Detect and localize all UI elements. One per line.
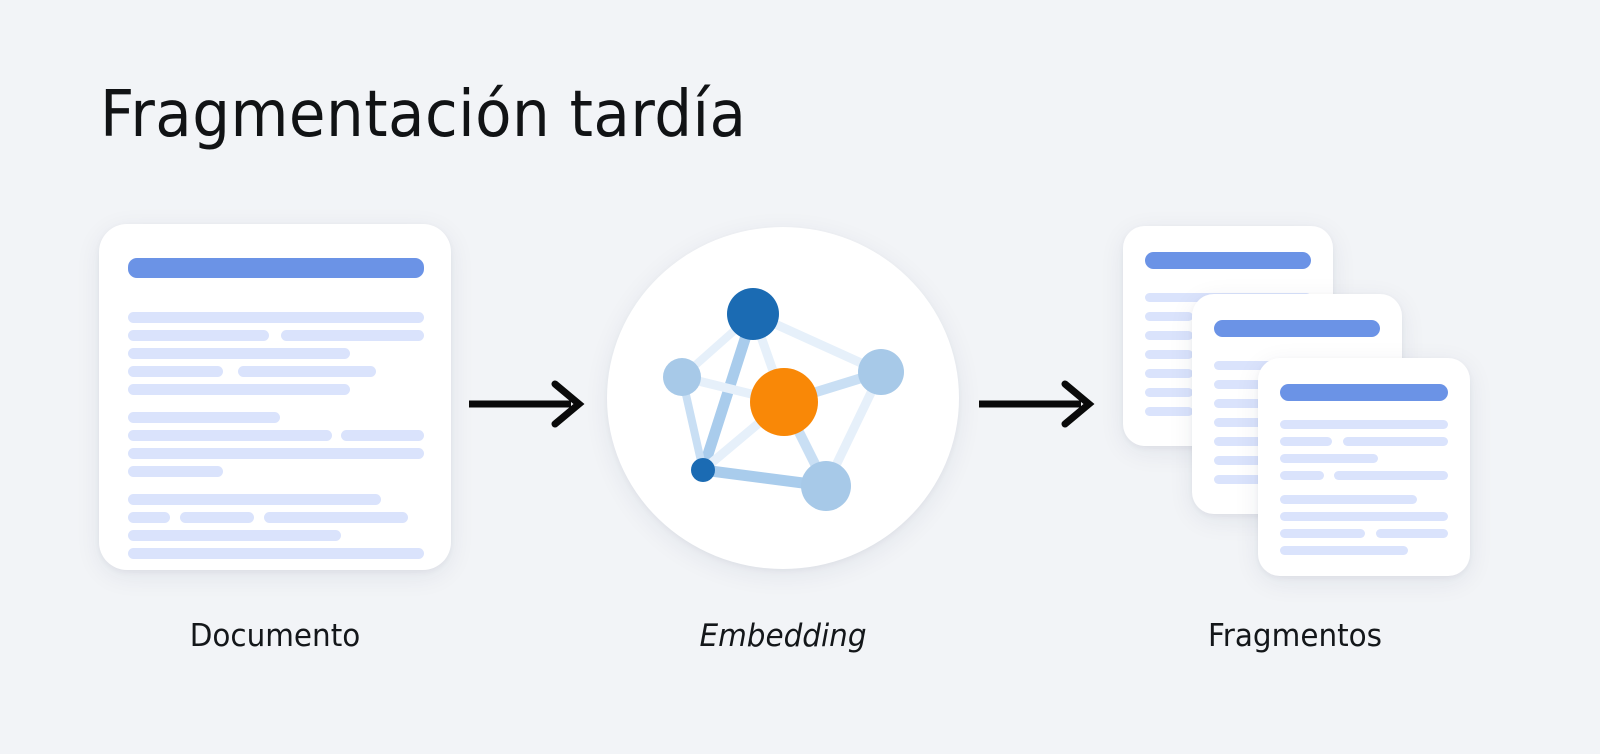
card-text-line: [341, 430, 424, 441]
card-text-line: [1145, 407, 1193, 416]
card-text-line: [128, 366, 223, 377]
card-text-line: [1280, 495, 1417, 504]
card-text-line: [128, 430, 332, 441]
card-text-line: [128, 330, 269, 341]
card-text-line: [1280, 437, 1332, 446]
card-text-line: [1280, 512, 1448, 521]
page-title: Fragmentación tardía: [100, 78, 746, 152]
card-text-line: [1214, 380, 1262, 389]
card-text-line: [128, 530, 341, 541]
card-text-line: [128, 494, 381, 505]
card-text-line: [128, 312, 424, 323]
card-text-line: [1280, 471, 1324, 480]
card-text-line: [128, 384, 350, 395]
card-header-bar: [1280, 384, 1448, 401]
card-text-line: [281, 330, 424, 341]
card-text-line: [128, 512, 170, 523]
document-card: [99, 224, 451, 570]
card-text-line: [1214, 399, 1262, 408]
card-text-line: [1145, 331, 1193, 340]
graph-node-node-bottom-light: [801, 461, 851, 511]
graph-node-node-left-light: [663, 358, 701, 396]
card-text-line: [238, 366, 376, 377]
card-text-line: [128, 412, 280, 423]
card-text-line: [128, 448, 424, 459]
card-text-line: [1376, 529, 1448, 538]
card-text-line: [1214, 437, 1262, 446]
fragment-card-3: [1258, 358, 1470, 576]
card-text-line: [1334, 471, 1448, 480]
card-header-bar: [1214, 320, 1380, 337]
card-text-line: [1214, 475, 1262, 484]
graph-node-node-right-light: [858, 349, 904, 395]
card-text-line: [1280, 420, 1448, 429]
card-header-bar: [1145, 252, 1311, 269]
card-text-line: [264, 512, 408, 523]
card-text-line: [1145, 369, 1193, 378]
card-text-line: [1280, 546, 1408, 555]
card-text-line: [1343, 437, 1448, 446]
caption-fragmentos: Fragmentos: [1124, 618, 1466, 654]
card-text-line: [128, 348, 350, 359]
graph-node-node-lower-left-dark: [691, 458, 715, 482]
card-text-line: [1145, 388, 1193, 397]
embedding-node-graph: [607, 227, 959, 569]
card-text-line: [1280, 529, 1365, 538]
diagram-canvas: Fragmentación tardía Documento Embedding…: [0, 0, 1600, 754]
caption-embedding: Embedding: [612, 618, 954, 654]
graph-node-node-top-dark: [727, 288, 779, 340]
graph-node-node-center-orange: [750, 368, 818, 436]
card-text-line: [128, 548, 424, 559]
card-text-line: [1145, 350, 1193, 359]
card-header-bar: [128, 258, 424, 278]
caption-documento: Documento: [104, 618, 446, 654]
card-text-line: [1214, 418, 1262, 427]
card-text-line: [180, 512, 254, 523]
arrow-embedding-to-fragments-icon: [977, 378, 1097, 430]
card-text-line: [128, 466, 223, 477]
arrow-doc-to-embedding-icon: [467, 378, 587, 430]
card-text-line: [1280, 454, 1378, 463]
card-text-line: [1214, 456, 1262, 465]
card-text-line: [1145, 312, 1193, 321]
